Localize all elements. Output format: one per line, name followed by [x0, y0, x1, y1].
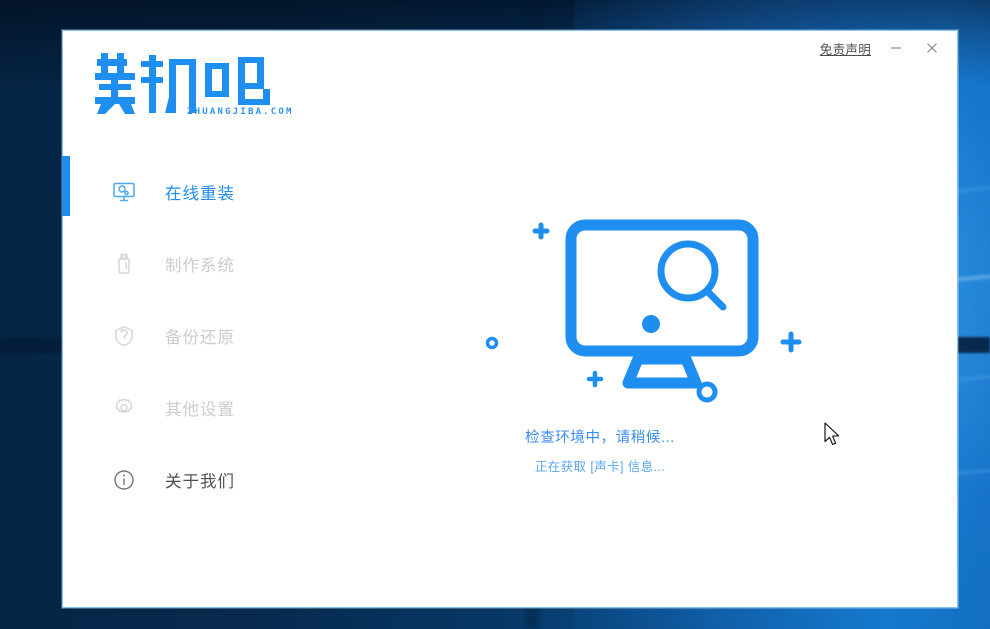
sidebar-item-other-settings[interactable]: 其他设置	[63, 372, 343, 444]
shield-restore-icon	[111, 323, 137, 349]
status-primary-text: 检查环境中，请稍候...	[363, 426, 837, 447]
monitor-search-icon	[483, 211, 843, 411]
sidebar-item-label: 备份还原	[165, 324, 235, 348]
usb-drive-icon	[111, 251, 137, 277]
sidebar-item-about-us[interactable]: 关于我们	[63, 444, 343, 516]
sidebar-item-label: 在线重装	[165, 180, 235, 204]
sidebar-item-label: 其他设置	[165, 396, 235, 420]
active-item-indicator	[62, 156, 70, 216]
mouse-cursor	[824, 422, 842, 453]
minimize-button[interactable]	[885, 37, 907, 59]
info-icon	[111, 467, 137, 493]
brand-logo-mark	[95, 53, 270, 115]
sidebar-item-create-system[interactable]: 制作系统	[63, 228, 343, 300]
close-button[interactable]	[921, 37, 943, 59]
application-window: 免责声明	[62, 30, 958, 608]
disclaimer-link[interactable]: 免责声明	[820, 39, 871, 58]
brand-logo-url: ZHUANGJIBA.COM	[187, 107, 294, 117]
brand-logo: ZHUANGJIBA.COM	[95, 53, 335, 133]
sidebar-item-label: 制作系统	[165, 252, 235, 276]
monitor-icon	[111, 179, 137, 205]
sidebar-item-label: 关于我们	[165, 468, 235, 492]
gear-icon	[111, 395, 137, 421]
sidebar-item-online-reinstall[interactable]: 在线重装	[63, 156, 343, 228]
sidebar-item-backup-restore[interactable]: 备份还原	[63, 300, 343, 372]
status-message-area: 检查环境中，请稍候... 正在获取 [声卡] 信息...	[363, 426, 957, 475]
status-secondary-text: 正在获取 [声卡] 信息...	[363, 456, 837, 475]
main-content-panel: 检查环境中，请稍候... 正在获取 [声卡] 信息...	[363, 151, 957, 607]
sidebar-navigation: 在线重装 制作系统 备份还原	[63, 156, 343, 516]
